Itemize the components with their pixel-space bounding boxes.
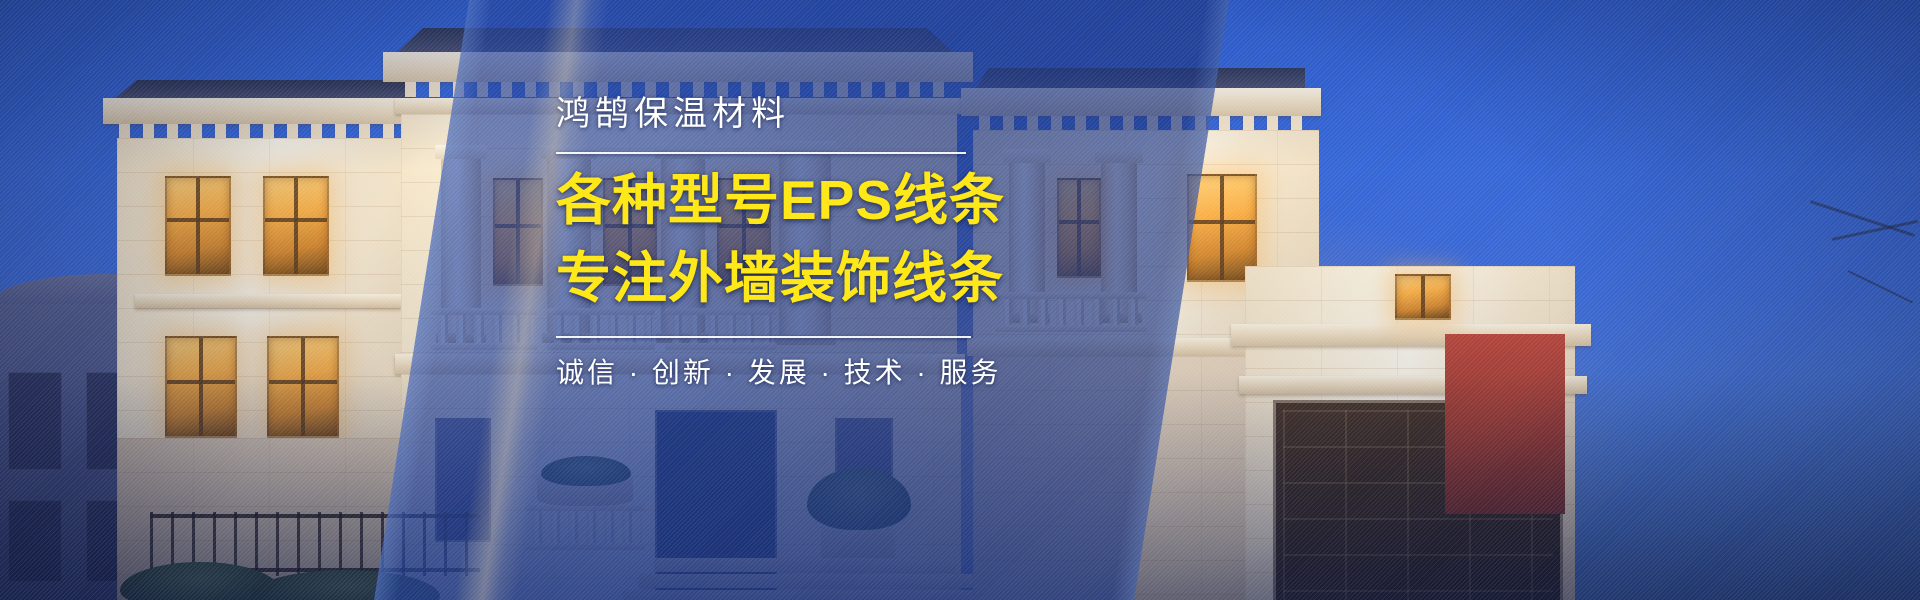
promotional-banner: 鸿鹄保温材料 各种型号EPS线条 专注外墙装饰线条 诚信 · 创新 · 发展 ·… bbox=[0, 0, 1920, 600]
